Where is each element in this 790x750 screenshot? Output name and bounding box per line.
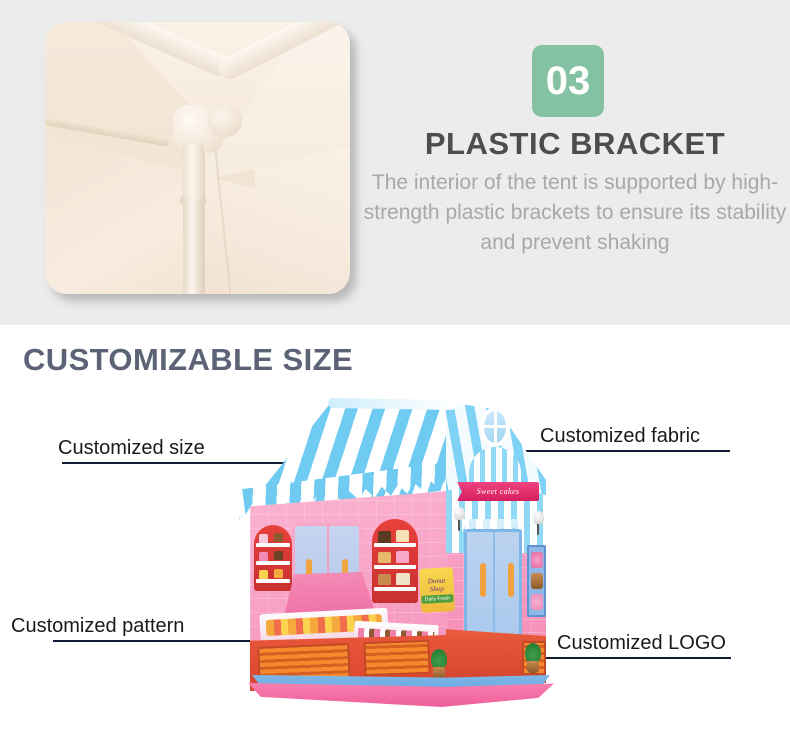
- product-feature-page: 03 PLASTIC BRACKET The interior of the t…: [0, 0, 790, 750]
- shelf-cake: [396, 530, 409, 542]
- sign-sweet-cakes: Sweet cakes: [457, 482, 539, 501]
- feature-section-plastic-bracket: 03 PLASTIC BRACKET The interior of the t…: [0, 0, 790, 325]
- shelf-cake: [396, 551, 409, 563]
- display-item-cake: [531, 573, 543, 589]
- plastic-bracket-cap: [208, 105, 242, 137]
- callout-label-fabric: Customized fabric: [540, 425, 730, 448]
- shelf-cake: [259, 552, 268, 561]
- shelf-line: [256, 561, 290, 565]
- photo-content: [45, 22, 350, 294]
- wall-lamp-right-icon: [533, 511, 544, 525]
- potted-plant-left-icon: [430, 649, 448, 679]
- shelf-line: [256, 543, 290, 547]
- shelf-cake: [259, 534, 268, 543]
- product-photo-plastic-bracket: [45, 22, 350, 294]
- door-handle-left: [480, 563, 486, 597]
- shelf-line: [374, 543, 416, 547]
- sign-donut-shop-line2: Shop: [430, 585, 444, 594]
- shelf-cake: [259, 570, 268, 579]
- arched-shelf-right: [372, 519, 418, 603]
- feature-title: PLASTIC BRACKET: [360, 126, 790, 162]
- shelf-cake: [396, 573, 410, 585]
- shelf-line: [374, 587, 416, 591]
- tent-post-upper: [182, 144, 204, 202]
- tent-floor-pink-band: [242, 683, 554, 707]
- plant-foliage: [431, 649, 447, 669]
- display-item-donut: [531, 552, 543, 568]
- sign-donut-shop: Donut Shop Daily Fresh: [419, 567, 455, 613]
- product-illustration-play-tent: Sweet cakes: [232, 383, 552, 710]
- shelf-cake: [274, 551, 283, 560]
- shelf-cake: [274, 533, 283, 542]
- door-handle-right: [508, 563, 514, 597]
- feature-number-text: 03: [546, 59, 591, 104]
- plant-pot: [527, 661, 539, 673]
- display-item-pastry: [531, 594, 543, 610]
- shelf-cake: [378, 531, 391, 543]
- plant-pot: [433, 667, 445, 679]
- plant-foliage: [525, 643, 541, 663]
- display-case-right: [527, 545, 546, 617]
- oval-window-icon: [480, 407, 510, 447]
- callout-customized-logo: Customized LOGO: [557, 632, 731, 659]
- section-heading-customizable-size: CUSTOMIZABLE SIZE: [23, 342, 353, 378]
- sign-sweet-cakes-text: Sweet cakes: [477, 487, 520, 496]
- wall-lamp-left-icon: [454, 507, 465, 521]
- shelf-cake: [378, 574, 391, 585]
- shelf-cake: [378, 552, 391, 563]
- feature-number-badge: 03: [532, 45, 604, 117]
- potted-plant-right-icon: [524, 643, 542, 673]
- sign-donut-shop-tagline: Daily Fresh: [422, 594, 454, 604]
- arched-shelf-left: [254, 525, 292, 591]
- callout-customized-fabric: Customized fabric: [540, 425, 730, 452]
- callout-label-logo: Customized LOGO: [557, 632, 731, 655]
- base-slats-panel-b: [363, 640, 430, 676]
- shelf-line: [256, 579, 290, 583]
- shelf-cake: [274, 569, 283, 578]
- feature-copy-block: 03 PLASTIC BRACKET The interior of the t…: [360, 0, 790, 325]
- shelf-line: [374, 565, 416, 569]
- feature-description: The interior of the tent is supported by…: [360, 168, 790, 258]
- tent-post-lower: [183, 200, 203, 294]
